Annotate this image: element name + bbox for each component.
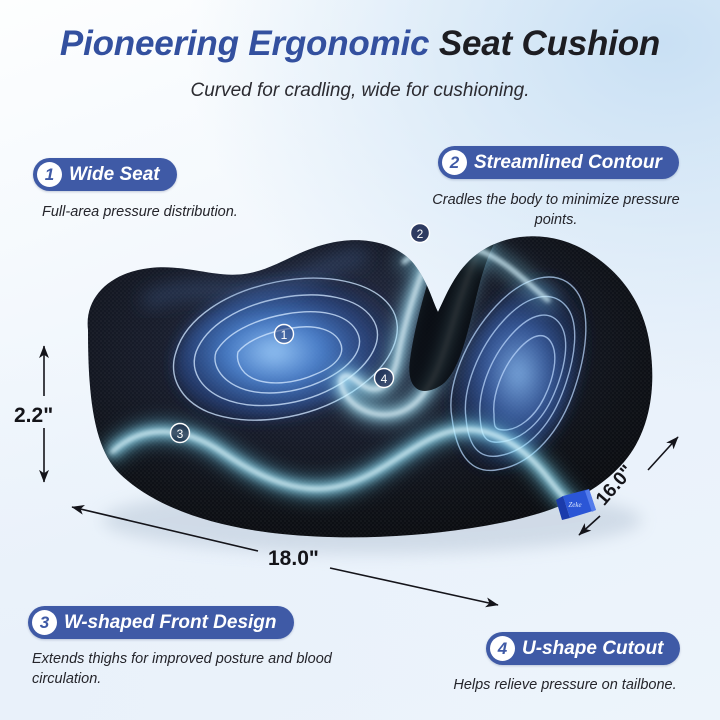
dimension-width-label: 18.0"	[268, 547, 319, 571]
infographic-page: Pioneering Ergonomic Seat Cushion Curved…	[0, 0, 720, 720]
feature-badge-1-number: 1	[37, 162, 62, 187]
product-marker-1-label: 1	[281, 328, 288, 342]
product-marker-4-label: 4	[381, 372, 388, 386]
feature-badge-2-number: 2	[442, 150, 467, 175]
feature-badge-3[interactable]: 3 W-shaped Front Design	[28, 606, 294, 639]
brand-tag-text: Zeke	[568, 501, 581, 509]
dimension-height-label: 2.2"	[14, 404, 53, 428]
feature-badge-1[interactable]: 1 Wide Seat	[33, 158, 177, 191]
feature-badge-2-label: Streamlined Contour	[474, 152, 662, 174]
feature-description-4: Helps relieve pressure on tailbone.	[425, 676, 705, 696]
feature-description-1: Full-area pressure distribution.	[42, 203, 342, 223]
product-marker-4: 4	[375, 369, 394, 388]
feature-badge-4-number: 4	[490, 636, 515, 661]
feature-badge-2[interactable]: 2 Streamlined Contour	[438, 146, 679, 179]
feature-description-2: Cradles the body to minimize pressure po…	[420, 191, 692, 230]
product-marker-1: 1	[275, 325, 294, 344]
feature-badge-3-label: W-shaped Front Design	[64, 612, 277, 634]
product-marker-3-label: 3	[177, 427, 184, 441]
feature-description-3: Extends thighs for improved posture and …	[32, 650, 342, 689]
product-marker-3: 3	[171, 424, 190, 443]
feature-badge-1-label: Wide Seat	[69, 164, 160, 186]
feature-badge-4-label: U-shape Cutout	[522, 638, 663, 660]
feature-badge-3-number: 3	[32, 610, 57, 635]
feature-badge-4[interactable]: 4 U-shape Cutout	[486, 632, 680, 665]
